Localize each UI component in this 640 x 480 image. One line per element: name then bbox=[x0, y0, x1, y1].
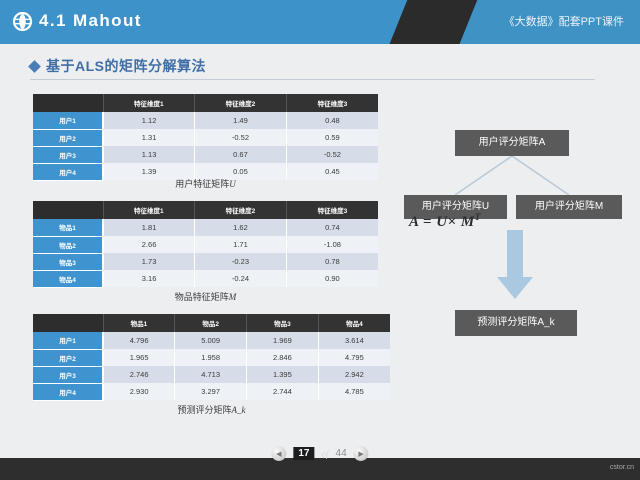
slide: 4.1 Mahout 《大数据》配套PPT课件 基于ALS的矩阵分解算法 特征维… bbox=[0, 0, 640, 480]
page-total-label: 44 bbox=[336, 448, 347, 459]
node-user-rating-matrix-m: 用户评分矩阵M bbox=[516, 195, 622, 219]
prev-arrow-icon[interactable]: ◀ bbox=[271, 446, 286, 461]
pager: ◀ 17 of 44 ▶ bbox=[271, 446, 368, 461]
diagram-connectors bbox=[0, 44, 640, 458]
watermark-label: cstor.cn bbox=[610, 464, 634, 471]
globe-icon bbox=[12, 11, 33, 32]
connector-a-to-m bbox=[512, 156, 569, 195]
connector-a-to-u bbox=[455, 156, 512, 195]
node-predicted-rating-matrix-ak: 预测评分矩阵A_k bbox=[455, 310, 577, 336]
slide-footer: ◀ 17 of 44 ▶ cstor.cn bbox=[0, 458, 640, 480]
next-arrow-icon[interactable]: ▶ bbox=[354, 446, 369, 461]
formula-superscript: T bbox=[475, 212, 481, 222]
als-factorization-diagram: 用户评分矩阵A 用户评分矩阵U 用户评分矩阵M 预测评分矩阵A_k A = U×… bbox=[0, 44, 640, 458]
header-subtitle: 《大数据》配套PPT课件 bbox=[504, 14, 624, 30]
factorization-formula: A = U× MT bbox=[409, 212, 481, 231]
down-arrow-icon bbox=[497, 230, 533, 299]
slide-header: 4.1 Mahout 《大数据》配套PPT课件 bbox=[0, 0, 640, 44]
slide-canvas: 基于ALS的矩阵分解算法 特征维度1 特征维度2 特征维度3 用户1 1.12 … bbox=[0, 44, 640, 458]
node-user-rating-matrix-a: 用户评分矩阵A bbox=[455, 130, 569, 156]
page-number-badge: 17 bbox=[293, 447, 314, 460]
page-title: 4.1 Mahout bbox=[39, 10, 142, 32]
page-of-label: of bbox=[321, 449, 328, 459]
formula-main: A = U× M bbox=[409, 214, 475, 230]
